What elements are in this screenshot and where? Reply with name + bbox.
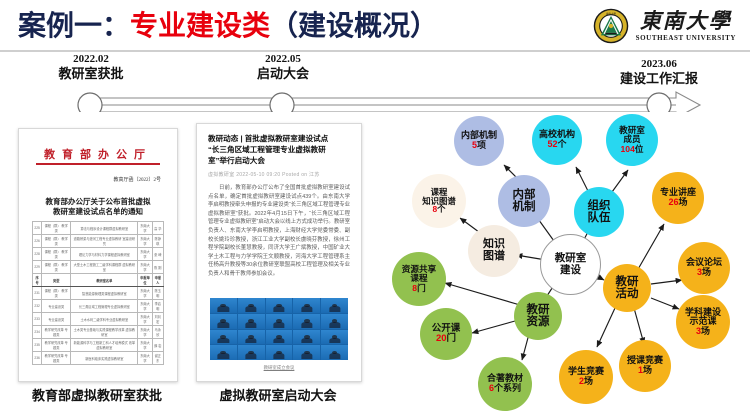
timeline: 2022.02 教研室获批 2022.05 启动大会 2023.06 建设工作汇… [0, 52, 750, 112]
node-unit: 门 [417, 283, 426, 293]
node-line: 图谱 [483, 251, 505, 263]
university-logo: 東南大學 東南大學 SOUTHEAST UNIVERSITY [593, 4, 736, 48]
doc2-meta: 虚拟教研室 2022-05-10 09:20 Posted on 江苏 [208, 171, 320, 178]
table-cell: 课程（群） 教学类 [42, 261, 71, 274]
table-cell: 高 华 [152, 222, 163, 235]
node-value: 8门 [412, 284, 425, 293]
doc1-table: 225课程（群） 教学类算法与程序设计课程群虚拟教研室东南大学高 华226课程（… [32, 221, 164, 365]
table-cell: 东南大学 [138, 287, 152, 300]
table-cell: 课程（群） 教学类 [42, 222, 71, 235]
doc2-meeting-photo [210, 298, 348, 360]
node-value: 1场 [638, 366, 652, 376]
table-cell: 228 [33, 248, 42, 261]
milestone-date: 2022.05 [222, 53, 344, 66]
table-row: 236教学研究改革 专题类新医科临床实践虚拟教研室东南大学谢正东 [33, 352, 164, 365]
table-cell: 薛 岩 [152, 339, 163, 352]
node-line: 内部 [513, 189, 536, 201]
table-cell: 东南大学 [138, 248, 152, 261]
node-leaf-conference-forums[interactable]: 会议论坛 3场 [678, 242, 730, 294]
table-cell: 大型土木工程施工二级学科课程群 虚拟教研室 [71, 261, 138, 274]
node-line: 资源 [527, 316, 550, 328]
edge-activity-demo [651, 298, 679, 309]
table-cell: 理论力学与材料力学课程虚拟教研室 [71, 248, 138, 261]
node-unit: 门 [447, 333, 457, 344]
participant-tile [210, 314, 237, 329]
table-row: 234教学研究改革 专题类土木类专业基础与实践课程教学改革 虚拟教研室东南大学马… [33, 326, 164, 339]
edge-resource-open [472, 321, 515, 333]
milestone-label: 教研室获批 [30, 66, 152, 82]
table-cell: 专业建设类 [42, 313, 71, 326]
logo-name-cn: 東南大學 [640, 11, 732, 32]
table-cell: 道路桥梁与渡河工程专业虚拟教研 室建设研究 [71, 235, 138, 248]
table-cell: 李启明 [152, 300, 163, 313]
node-leaf-open-courses[interactable]: 公开课 20门 [420, 308, 472, 360]
table-cell: 新医科临床实践虚拟教研室 [71, 352, 138, 365]
table-cell: 刘钊宏 [152, 313, 163, 326]
node-leaf-shared-resource-courses[interactable]: 资源共享 课程 8门 [392, 252, 446, 306]
table-cell: 236 [33, 352, 42, 365]
edge-activity-lectures [637, 224, 664, 271]
document-card-moe-approval[interactable]: 教育部办公厅 教高厅函〔2022〕2号 教育部办公厅关于公布首批虚拟 教研室建设… [18, 128, 178, 382]
edge-activity-student-comp [597, 308, 615, 347]
table-cell: 东南大学 [138, 222, 152, 235]
table-cell: 226 [33, 235, 42, 248]
node-center-office-construction[interactable]: 教研室 建设 [540, 234, 601, 295]
node-number: 26 [668, 197, 678, 207]
node-line: 机制 [513, 201, 536, 213]
node-branch-internal-mechanism[interactable]: 内部 机制 [498, 175, 550, 227]
table-cell: 课程（群） 教学类 [42, 248, 71, 261]
page-title-highlight: 专业建设类 [130, 10, 270, 41]
table-row: 226课程（群） 教学类道路桥梁与渡河工程专业虚拟教研 室建设研究东南大学陈静琪 [33, 235, 164, 248]
table-cell: 东南大学 [138, 352, 152, 365]
table-cell: 专业建设类 [42, 300, 71, 313]
node-unit: 场 [701, 326, 710, 336]
logo-name-en: SOUTHEAST UNIVERSITY [636, 35, 736, 42]
table-cell: 课程（群） 教学类 [42, 287, 71, 300]
table-cell: 陈 刚 [152, 261, 163, 274]
participant-tile [266, 345, 293, 360]
edge-org-members [612, 170, 628, 192]
node-value: 8个 [432, 205, 445, 214]
milestone-label: 启动大会 [222, 66, 344, 82]
table-cell: 陈静琪 [152, 235, 163, 248]
node-unit: 个 [558, 139, 567, 149]
participant-tile [293, 298, 320, 313]
node-leaf-course-knowledge-graph[interactable]: 课程 知识图谱 8个 [412, 174, 466, 228]
doc1-rule [36, 163, 160, 165]
table-row: 225课程（群） 教学类算法与程序设计课程群虚拟教研室东南大学高 华 [33, 222, 164, 235]
participant-tile [293, 314, 320, 329]
participant-tile [321, 314, 348, 329]
node-value: 104位 [621, 145, 644, 154]
doc1-table-header-cell: 教研室名单 [71, 274, 138, 287]
node-leaf-office-members[interactable]: 教研室 成员 104位 [606, 114, 658, 166]
table-cell: 教学研究改革 专题类 [42, 326, 71, 339]
node-unit: 场 [584, 376, 593, 386]
edge-activity-teaching-comp [634, 308, 644, 344]
table-cell: 东南大学 [138, 313, 152, 326]
page-title-suffix: （建设概况） [270, 10, 438, 41]
node-unit: 个 [437, 204, 445, 214]
table-cell: 算法与程序设计课程群虚拟教研室 [71, 222, 138, 235]
table-cell: 东南大学 [138, 326, 152, 339]
table-cell: 东南大学 [138, 235, 152, 248]
table-cell: 谢正东 [152, 352, 163, 365]
table-cell: 智慧能源管理类课程虚拟教研室 [71, 287, 138, 300]
node-unit: 项 [477, 140, 486, 150]
node-value: 2场 [579, 377, 593, 387]
node-branch-research-activity[interactable]: 教研 活动 [603, 264, 651, 312]
table-row: 233专业建设类土木水利二级学科专业虚拟教研室东南大学刘钊宏 [33, 313, 164, 326]
participant-tile [266, 330, 293, 345]
doc1-table-header-row: 序号类型教研室名单申报单位申报人 [33, 274, 164, 287]
participant-tile [238, 298, 265, 313]
node-unit: 个系列 [494, 383, 521, 393]
edge-resource-shared [445, 283, 520, 305]
page-title: 案例一：专业建设类（建设概况） [18, 6, 438, 46]
doc1-masthead: 教育部办公厅 [19, 146, 177, 162]
node-line: 建设 [560, 265, 581, 276]
node-branch-knowledge-graph[interactable]: 知识 图谱 [468, 225, 520, 277]
node-unit: 场 [643, 365, 652, 375]
doc1-headline: 教育部办公厅关于公布首批虚拟 教研室建设试点名单的通知 [19, 197, 177, 217]
participant-tile [321, 330, 348, 345]
node-value: 6个系列 [489, 384, 521, 394]
table-cell: 231 [33, 287, 42, 300]
table-cell: 马永欣 [152, 326, 163, 339]
node-unit: 场 [702, 267, 711, 277]
table-cell: 课程（群） 教学类 [42, 235, 71, 248]
node-value: 20门 [436, 334, 456, 344]
table-cell: 新能源科学与工程新工科人才培养模式 改革虚拟教研室 [71, 339, 138, 352]
node-value: 52个 [547, 140, 566, 150]
node-branch-research-resource[interactable]: 教研 资源 [514, 292, 562, 340]
table-row: 232专业建设类长三角区域工程管理专业虚拟教研室东南大学李启明 [33, 300, 164, 313]
table-cell: 233 [33, 313, 42, 326]
doc2-headline: 教研动态 | 首批虚拟教研室建设试点 “长三角区域工程管理专业虚拟教研 室”举行… [208, 133, 350, 166]
table-cell: 229 [33, 261, 42, 274]
participant-tile [321, 345, 348, 360]
node-leaf-student-competition[interactable]: 学生竞赛 2场 [559, 350, 613, 404]
seu-seal-icon: 東南大學 [593, 8, 629, 44]
table-cell: 234 [33, 326, 42, 339]
milestone-date: 2022.02 [30, 53, 152, 66]
slide-root: 案例一：专业建设类（建设概况） 東南大學 東南大學 SOUTHEAST UNIV… [0, 0, 750, 411]
document-caption-1: 教育部虚拟教研室获批 [18, 385, 176, 404]
doc1-table-header-cell: 序号 [33, 274, 42, 287]
node-line: 教研室 [555, 253, 587, 264]
participant-tile [238, 330, 265, 345]
photo-participant-grid [210, 298, 348, 360]
timeline-milestone-1: 2022.02 教研室获批 [30, 53, 152, 82]
table-cell: 长三角区域工程管理专业虚拟教研室 [71, 300, 138, 313]
slide-header: 案例一：专业建设类（建设概况） 東南大學 東南大學 SOUTHEAST UNIV… [0, 0, 750, 52]
node-leaf-coauthored-textbooks[interactable]: 合著教材 6个系列 [478, 357, 532, 411]
participant-tile [210, 298, 237, 313]
logo-wordmark: 東南大學 SOUTHEAST UNIVERSITY [636, 11, 736, 42]
doc2-body: 日前，教育部办公厅公布了全国首批虚拟教研室建设试点名单，确定首批虚拟教研室建设试… [208, 184, 350, 279]
participant-tile [266, 314, 293, 329]
node-number: 20 [436, 333, 447, 344]
doc1-number: 教高厅函〔2022〕2号 [71, 176, 161, 183]
doc2-image-caption: 教研室成立会议 [197, 365, 361, 371]
node-leaf-university-institutions[interactable]: 高校机构 52个 [532, 115, 582, 165]
table-cell: 陈玉明 [152, 287, 163, 300]
table-cell: 张 嵘 [152, 248, 163, 261]
table-row: 235教学研究改革 专题类新能源科学与工程新工科人才培养模式 改革虚拟教研室东南… [33, 339, 164, 352]
node-value: 3场 [697, 268, 711, 278]
node-leaf-teaching-competition[interactable]: 授课竞赛 1场 [619, 340, 671, 392]
table-cell: 教学研究改革 专题类 [42, 339, 71, 352]
table-cell: 东南大学 [138, 261, 152, 274]
doc1-table-header-cell: 申报人 [152, 274, 163, 287]
participant-tile [321, 298, 348, 313]
doc1-table-header-cell: 申报单位 [138, 274, 152, 287]
node-line: 教研 [527, 304, 550, 316]
table-row: 228课程（群） 教学类理论力学与材料力学课程虚拟教研室东南大学张 嵘 [33, 248, 164, 261]
node-value: 5项 [472, 141, 486, 151]
mindmap: 教研室 建设 知识 图谱 内部 机制 组织 队伍 教研 活动 教研 资源 [388, 112, 750, 411]
node-line: 教研 [616, 276, 639, 288]
milestone-date: 2023.06 [588, 58, 730, 71]
node-number: 104 [621, 144, 635, 154]
node-leaf-discipline-demo-class[interactable]: 学科建设 示范课 3场 [676, 295, 730, 349]
page-title-prefix: 案例一： [18, 10, 130, 41]
document-card-launch-meeting[interactable]: 教研动态 | 首批虚拟教研室建设试点 “长三角区域工程管理专业虚拟教研 室”举行… [196, 123, 362, 382]
table-cell: 225 [33, 222, 42, 235]
node-value: 26场 [668, 198, 687, 208]
node-line: 活动 [616, 288, 639, 300]
participant-tile [210, 330, 237, 345]
table-row: 231课程（群） 教学类智慧能源管理类课程虚拟教研室东南大学陈玉明 [33, 287, 164, 300]
node-line: 队伍 [588, 212, 611, 224]
timeline-milestone-3: 2023.06 建设工作汇报 [588, 58, 730, 87]
participant-tile [210, 345, 237, 360]
table-cell: 235 [33, 339, 42, 352]
timeline-milestone-2: 2022.05 启动大会 [222, 53, 344, 82]
table-cell: 东南大学 [138, 339, 152, 352]
node-value: 3场 [696, 327, 710, 337]
doc1-table-header-cell: 类型 [42, 274, 71, 287]
table-cell: 教学研究改革 专题类 [42, 352, 71, 365]
node-branch-organization-team[interactable]: 组织 队伍 [574, 187, 624, 237]
table-cell: 土木水利二级学科专业虚拟教研室 [71, 313, 138, 326]
milestone-label: 建设工作汇报 [588, 71, 730, 87]
node-number: 52 [547, 139, 557, 149]
node-unit: 场 [679, 197, 688, 207]
participant-tile [238, 314, 265, 329]
table-row: 229课程（群） 教学类大型土木工程施工二级学科课程群 虚拟教研室东南大学陈 刚 [33, 261, 164, 274]
table-cell: 东南大学 [138, 300, 152, 313]
node-unit: 位 [635, 144, 644, 154]
participant-tile [266, 298, 293, 313]
participant-tile [238, 345, 265, 360]
document-caption-2: 虚拟教研室启动大会 [196, 385, 360, 404]
node-leaf-internal-mechanism-count[interactable]: 内部机制 5项 [454, 116, 504, 166]
node-line: 组织 [588, 200, 611, 212]
edge-activity-forums [651, 280, 682, 284]
participant-tile [293, 330, 320, 345]
participant-tile [293, 345, 320, 360]
table-cell: 232 [33, 300, 42, 313]
node-leaf-expert-lectures[interactable]: 专业讲座 26场 [652, 172, 704, 224]
table-cell: 土木类专业基础与实践课程教学改革 虚拟教研室 [71, 326, 138, 339]
